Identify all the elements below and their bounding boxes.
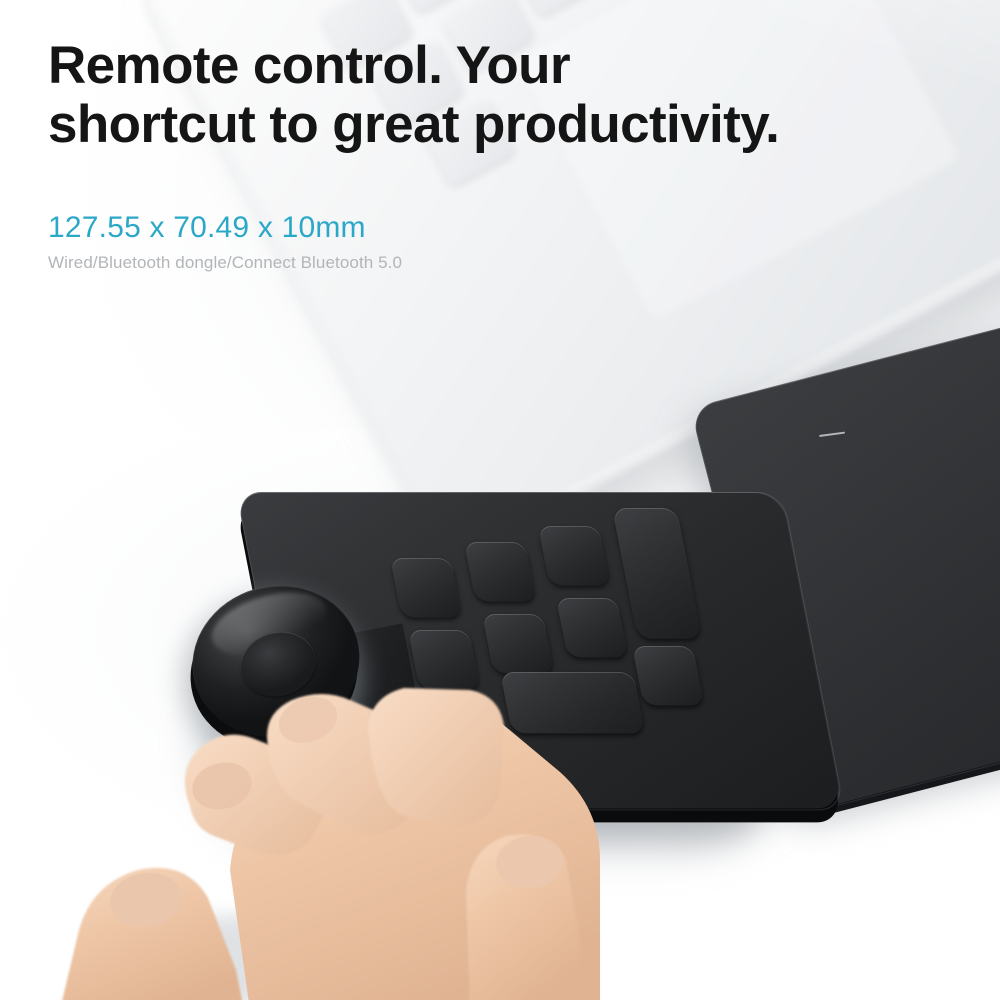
product-marketing-image: Remote control. Your shortcut to great p… bbox=[0, 0, 1000, 1000]
page-title: Remote control. Your shortcut to great p… bbox=[48, 36, 928, 155]
copy-block: Remote control. Your shortcut to great p… bbox=[48, 36, 928, 273]
hand bbox=[0, 540, 700, 1000]
laptop-key bbox=[511, 0, 605, 17]
dimensions-label: 127.55 x 70.49 x 10mm bbox=[48, 211, 928, 245]
connectivity-label: Wired/Bluetooth dongle/Connect Bluetooth… bbox=[48, 253, 928, 273]
